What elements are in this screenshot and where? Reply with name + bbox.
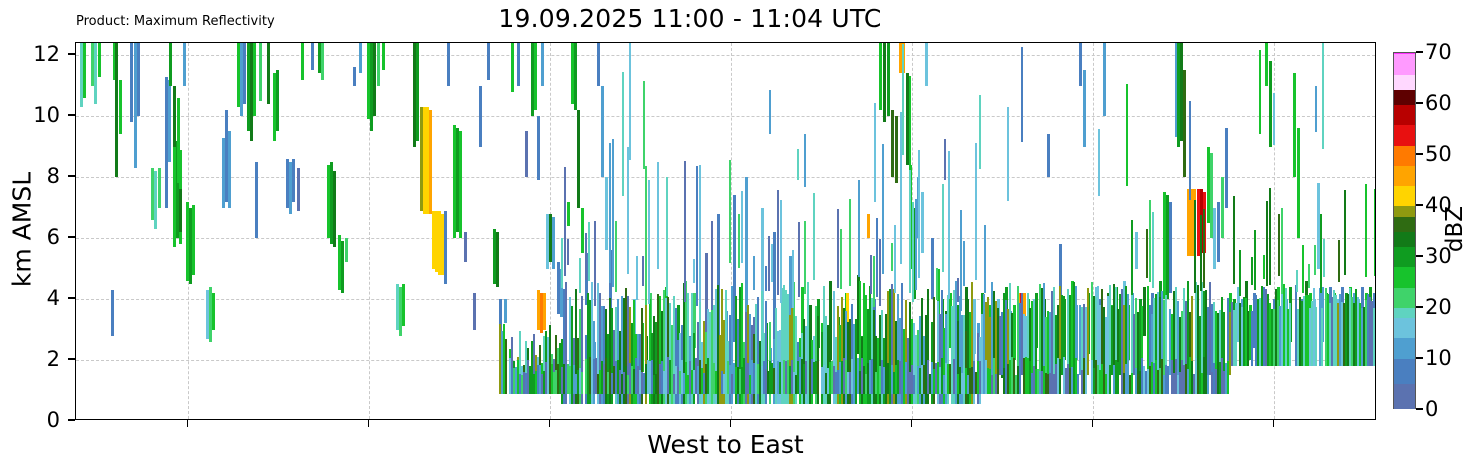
reflectivity-column — [1213, 208, 1216, 269]
reflectivity-column — [594, 221, 596, 306]
reflectivity-column — [377, 43, 380, 86]
reflectivity-column — [887, 43, 890, 116]
reflectivity-column — [173, 86, 176, 147]
reflectivity-column — [912, 202, 914, 302]
plot-area — [75, 42, 1376, 420]
reflectivity-column — [569, 366, 571, 394]
reflectivity-column — [887, 363, 889, 393]
reflectivity-column — [931, 238, 934, 299]
reflectivity-column — [1321, 308, 1323, 366]
colorbar-segment — [1394, 307, 1415, 318]
colorbar-tick-mark — [1416, 408, 1423, 409]
reflectivity-column — [297, 168, 300, 211]
reflectivity-column — [913, 375, 915, 393]
colorbar-segment — [1394, 104, 1415, 126]
colorbar-tick-label: 0 — [1425, 397, 1438, 421]
reflectivity-column — [909, 76, 911, 170]
reflectivity-column — [1259, 50, 1261, 134]
reflectivity-column — [98, 43, 101, 77]
reflectivity-column — [622, 72, 624, 195]
reflectivity-column — [723, 374, 725, 393]
reflectivity-column — [753, 363, 755, 394]
reflectivity-column — [511, 43, 514, 92]
reflectivity-column — [1265, 43, 1268, 86]
reflectivity-column — [154, 171, 157, 229]
y-tick-label: 8 — [20, 164, 60, 188]
reflectivity-column — [874, 103, 876, 201]
reflectivity-column — [1019, 361, 1021, 394]
reflectivity-column — [1189, 101, 1191, 200]
reflectivity-column — [588, 222, 590, 281]
reflectivity-column — [345, 238, 348, 262]
reflectivity-column — [1207, 375, 1209, 394]
reflectivity-columns — [76, 43, 1375, 419]
reflectivity-column — [879, 239, 881, 307]
reflectivity-column — [605, 177, 608, 250]
reflectivity-column — [1263, 255, 1265, 279]
reflectivity-column — [1281, 208, 1283, 294]
reflectivity-column — [541, 43, 544, 86]
reflectivity-column — [276, 70, 279, 131]
reflectivity-column — [909, 168, 911, 293]
colorbar-tick-mark — [1416, 102, 1423, 103]
reflectivity-column — [301, 43, 304, 80]
reflectivity-column — [1127, 294, 1129, 376]
reflectivity-column — [552, 217, 555, 269]
reflectivity-column — [975, 143, 977, 280]
colorbar-tick-mark — [1416, 153, 1423, 154]
reflectivity-column — [504, 299, 507, 323]
reflectivity-column — [875, 372, 877, 393]
reflectivity-column — [858, 180, 860, 277]
reflectivity-column — [1007, 107, 1009, 201]
reflectivity-column — [137, 43, 140, 116]
colorbar-segment — [1394, 185, 1415, 207]
reflectivity-column — [130, 43, 133, 122]
reflectivity-column — [777, 190, 779, 295]
reflectivity-column — [1302, 245, 1304, 292]
reflectivity-column — [780, 200, 782, 303]
reflectivity-column — [1344, 190, 1346, 275]
colorbar-segment — [1394, 383, 1415, 410]
colorbar-gradient — [1393, 52, 1416, 409]
reflectivity-column — [1131, 373, 1133, 394]
colorbar-segment — [1394, 89, 1415, 105]
colorbar-segment — [1394, 215, 1415, 231]
reflectivity-column — [895, 116, 898, 183]
product-label: Product: Maximum Reflectivity — [76, 14, 275, 29]
reflectivity-column — [792, 250, 794, 307]
reflectivity-column — [1251, 311, 1253, 366]
reflectivity-column — [741, 191, 743, 262]
reflectivity-column — [564, 167, 566, 276]
colorbar — [1393, 52, 1416, 409]
reflectivity-column — [1126, 84, 1128, 186]
reflectivity-column — [1227, 361, 1229, 394]
y-tick-mark — [68, 297, 75, 298]
reflectivity-column — [1239, 250, 1241, 295]
reflectivity-column — [891, 110, 894, 177]
reflectivity-column — [1269, 61, 1272, 146]
reflectivity-column — [1059, 359, 1061, 393]
reflectivity-column — [870, 255, 872, 293]
y-tick-label: 6 — [20, 225, 60, 249]
reflectivity-column — [804, 221, 806, 294]
reflectivity-column — [574, 43, 577, 110]
colorbar-tick-mark — [1416, 204, 1423, 205]
reflectivity-column — [402, 284, 405, 327]
reflectivity-column — [1273, 93, 1275, 145]
reflectivity-column — [1266, 201, 1268, 287]
reflectivity-column — [1200, 215, 1202, 291]
y-tick-label: 0 — [20, 408, 60, 432]
reflectivity-column — [645, 166, 647, 305]
reflectivity-column — [876, 218, 878, 296]
reflectivity-column — [953, 359, 955, 393]
reflectivity-column — [879, 43, 882, 110]
reflectivity-column — [373, 43, 376, 116]
reflectivity-column — [707, 358, 709, 394]
reflectivity-column — [253, 43, 256, 116]
reflectivity-column — [902, 44, 904, 155]
reflectivity-column — [615, 221, 617, 292]
reflectivity-column — [948, 151, 950, 298]
reflectivity-column — [797, 149, 799, 180]
radar-cross-section-figure: 19.09.2025 11:00 - 11:04 UTC Product: Ma… — [0, 0, 1482, 470]
x-tick-mark — [368, 420, 369, 427]
colorbar-segment — [1394, 73, 1415, 89]
reflectivity-column — [228, 131, 231, 207]
reflectivity-column — [851, 359, 853, 394]
reflectivity-column — [960, 210, 962, 311]
reflectivity-column — [1077, 374, 1079, 393]
reflectivity-column — [111, 290, 114, 336]
reflectivity-column — [581, 208, 584, 254]
reflectivity-column — [753, 256, 755, 290]
reflectivity-column — [1083, 70, 1086, 146]
reflectivity-column — [543, 293, 546, 330]
reflectivity-column — [359, 43, 362, 73]
x-tick-mark — [549, 420, 550, 427]
reflectivity-column — [447, 43, 450, 86]
colorbar-tick-mark — [1416, 51, 1423, 52]
x-tick-mark — [187, 420, 188, 427]
reflectivity-column — [629, 42, 631, 160]
colorbar-segment — [1394, 357, 1415, 384]
reflectivity-column — [949, 364, 951, 394]
reflectivity-column — [891, 243, 893, 271]
reflectivity-column — [1315, 86, 1317, 132]
reflectivity-column — [267, 43, 270, 104]
reflectivity-column — [1217, 202, 1220, 263]
reflectivity-column — [696, 166, 698, 306]
reflectivity-column — [255, 162, 258, 238]
reflectivity-column — [609, 143, 611, 282]
reflectivity-column — [883, 367, 885, 394]
reflectivity-column — [1269, 188, 1271, 285]
reflectivity-column — [840, 229, 842, 289]
reflectivity-column — [925, 43, 928, 86]
reflectivity-column — [1131, 220, 1133, 294]
reflectivity-column — [444, 211, 447, 284]
reflectivity-column — [525, 131, 528, 177]
reflectivity-column — [1194, 200, 1196, 294]
reflectivity-column — [1085, 371, 1087, 393]
reflectivity-column — [936, 268, 938, 300]
reflectivity-column — [567, 239, 569, 265]
reflectivity-column — [666, 177, 668, 296]
reflectivity-column — [464, 232, 467, 262]
reflectivity-column — [771, 244, 773, 282]
reflectivity-column — [837, 209, 839, 289]
y-tick-mark — [68, 53, 75, 54]
reflectivity-column — [527, 360, 529, 394]
reflectivity-column — [798, 222, 800, 296]
reflectivity-column — [684, 161, 686, 302]
reflectivity-column — [115, 43, 118, 177]
reflectivity-column — [1183, 70, 1186, 177]
reflectivity-column — [923, 365, 925, 393]
reflectivity-column — [1165, 295, 1167, 376]
reflectivity-column — [849, 199, 851, 286]
reflectivity-column — [873, 256, 875, 307]
reflectivity-column — [1374, 189, 1376, 276]
reflectivity-column — [997, 369, 999, 393]
reflectivity-column — [805, 361, 807, 393]
reflectivity-column — [1225, 128, 1228, 207]
y-tick-label: 12 — [20, 42, 60, 66]
reflectivity-column — [669, 360, 671, 394]
x-tick-mark — [911, 420, 912, 427]
x-axis-label: West to East — [75, 430, 1376, 459]
y-tick-label: 10 — [20, 103, 60, 127]
y-tick-mark — [68, 114, 75, 115]
reflectivity-column — [561, 238, 563, 288]
reflectivity-column — [321, 43, 324, 80]
reflectivity-column — [1320, 214, 1322, 294]
colorbar-tick-label: 10 — [1425, 346, 1452, 370]
reflectivity-column — [627, 147, 629, 274]
colorbar-segment — [1394, 124, 1415, 146]
reflectivity-column — [648, 180, 650, 304]
colorbar-segment — [1394, 266, 1415, 288]
reflectivity-column — [1167, 366, 1169, 394]
colorbar-segment — [1394, 53, 1415, 54]
reflectivity-column — [158, 168, 161, 208]
reflectivity-column — [537, 116, 540, 180]
reflectivity-column — [729, 160, 731, 263]
reflectivity-column — [341, 241, 344, 293]
reflectivity-column — [882, 144, 884, 273]
reflectivity-column — [957, 278, 959, 303]
reflectivity-column — [169, 43, 172, 86]
reflectivity-column — [979, 95, 981, 169]
reflectivity-column — [636, 256, 638, 300]
reflectivity-column — [612, 139, 614, 287]
reflectivity-column — [311, 43, 314, 70]
reflectivity-column — [382, 43, 385, 70]
reflectivity-column — [693, 259, 695, 283]
reflectivity-column — [1221, 177, 1224, 238]
reflectivity-column — [1297, 128, 1300, 238]
reflectivity-column — [579, 258, 581, 292]
reflectivity-column — [942, 184, 944, 272]
reflectivity-column — [567, 202, 570, 226]
reflectivity-column — [1117, 362, 1119, 394]
reflectivity-column — [259, 43, 262, 101]
reflectivity-column — [1289, 303, 1291, 366]
reflectivity-column — [168, 80, 171, 162]
colorbar-tick-mark — [1416, 357, 1423, 358]
reflectivity-column — [643, 81, 645, 169]
reflectivity-column — [1251, 257, 1253, 284]
reflectivity-column — [83, 43, 86, 98]
reflectivity-column — [711, 221, 713, 310]
reflectivity-column — [1047, 134, 1050, 177]
reflectivity-column — [901, 358, 903, 394]
colorbar-tick-mark — [1416, 306, 1423, 307]
reflectivity-column — [1149, 200, 1151, 281]
reflectivity-column — [1135, 232, 1138, 269]
reflectivity-column — [717, 361, 719, 394]
reflectivity-column — [1152, 212, 1154, 288]
x-tick-mark — [1092, 420, 1093, 427]
reflectivity-column — [581, 372, 583, 393]
reflectivity-column — [867, 214, 870, 238]
reflectivity-column — [1308, 264, 1310, 288]
reflectivity-column — [577, 110, 580, 208]
reflectivity-column — [921, 192, 924, 253]
colorbar-segment — [1394, 317, 1415, 339]
reflectivity-column — [1323, 239, 1325, 277]
y-tick-mark — [68, 358, 75, 359]
reflectivity-column — [1175, 42, 1177, 137]
reflectivity-column — [769, 90, 771, 134]
reflectivity-column — [1109, 365, 1111, 393]
colorbar-segment — [1394, 165, 1415, 187]
reflectivity-column — [915, 199, 917, 290]
reflectivity-column — [1338, 240, 1340, 282]
reflectivity-column — [1098, 129, 1100, 196]
reflectivity-column — [817, 361, 819, 394]
reflectivity-column — [1314, 245, 1316, 275]
reflectivity-column — [1169, 202, 1172, 293]
reflectivity-column — [1146, 229, 1148, 278]
reflectivity-column — [192, 205, 195, 275]
reflectivity-column — [183, 43, 186, 86]
reflectivity-column — [1365, 184, 1367, 277]
x-tick-mark — [730, 420, 731, 427]
reflectivity-column — [1296, 270, 1298, 292]
reflectivity-column — [589, 357, 591, 393]
reflectivity-column — [1087, 288, 1089, 375]
reflectivity-column — [473, 293, 476, 330]
reflectivity-column — [517, 43, 520, 86]
reflectivity-column — [984, 225, 986, 293]
reflectivity-column — [459, 131, 462, 238]
reflectivity-column — [585, 233, 587, 280]
reflectivity-column — [663, 371, 665, 393]
reflectivity-column — [944, 139, 946, 180]
reflectivity-column — [1103, 43, 1106, 116]
reflectivity-column — [597, 43, 600, 86]
colorbar-tick-label: 70 — [1425, 40, 1452, 64]
reflectivity-column — [243, 43, 246, 104]
reflectivity-column — [918, 150, 920, 279]
reflectivity-column — [119, 80, 122, 135]
reflectivity-column — [1233, 196, 1235, 284]
y-tick-mark — [68, 419, 75, 420]
reflectivity-column — [1254, 230, 1256, 291]
colorbar-tick-label: 60 — [1425, 91, 1452, 115]
reflectivity-column — [505, 339, 507, 393]
reflectivity-column — [738, 214, 740, 268]
colorbar-segment — [1394, 53, 1415, 75]
reflectivity-column — [765, 266, 767, 291]
reflectivity-column — [1079, 43, 1082, 86]
reflectivity-column — [212, 293, 215, 330]
reflectivity-column — [416, 43, 419, 141]
reflectivity-column — [1315, 307, 1317, 366]
reflectivity-column — [94, 43, 97, 104]
colorbar-segment — [1394, 246, 1415, 268]
reflectivity-column — [894, 225, 896, 293]
reflectivity-column — [1278, 214, 1280, 276]
y-tick-mark — [68, 175, 75, 176]
reflectivity-column — [963, 241, 965, 286]
reflectivity-column — [1021, 47, 1023, 142]
y-tick-mark — [68, 236, 75, 237]
reflectivity-column — [1293, 73, 1296, 177]
reflectivity-column — [177, 98, 180, 183]
reflectivity-column — [333, 171, 336, 247]
reflectivity-column — [1203, 209, 1205, 288]
reflectivity-column — [1375, 302, 1376, 366]
reflectivity-column — [1247, 311, 1249, 367]
reflectivity-column — [585, 359, 587, 394]
reflectivity-column — [1235, 303, 1237, 366]
colorbar-segment — [1394, 231, 1415, 247]
reflectivity-column — [657, 162, 659, 269]
reflectivity-column — [1322, 42, 1324, 149]
reflectivity-column — [1143, 287, 1146, 336]
colorbar-segment — [1394, 205, 1415, 216]
reflectivity-column — [353, 67, 356, 85]
reflectivity-column — [813, 193, 815, 280]
reflectivity-column — [883, 43, 886, 122]
y-tick-label: 4 — [20, 286, 60, 310]
reflectivity-column — [534, 43, 537, 110]
colorbar-title: dBZ — [1442, 129, 1468, 329]
reflectivity-column — [642, 256, 644, 286]
colorbar-segment — [1394, 286, 1415, 308]
reflectivity-column — [557, 364, 559, 393]
colorbar-segment — [1394, 144, 1415, 166]
reflectivity-column — [496, 232, 499, 287]
reflectivity-column — [757, 364, 759, 393]
x-tick-mark — [1273, 420, 1274, 427]
colorbar-tick-mark — [1416, 255, 1423, 256]
colorbar-segment — [1394, 337, 1415, 359]
y-tick-label: 2 — [20, 347, 60, 371]
reflectivity-column — [699, 165, 701, 303]
reflectivity-column — [487, 43, 490, 80]
reflectivity-column — [292, 159, 295, 202]
reflectivity-column — [479, 86, 482, 147]
reflectivity-column — [768, 236, 770, 291]
reflectivity-column — [1035, 310, 1037, 376]
reflectivity-column — [804, 134, 806, 186]
